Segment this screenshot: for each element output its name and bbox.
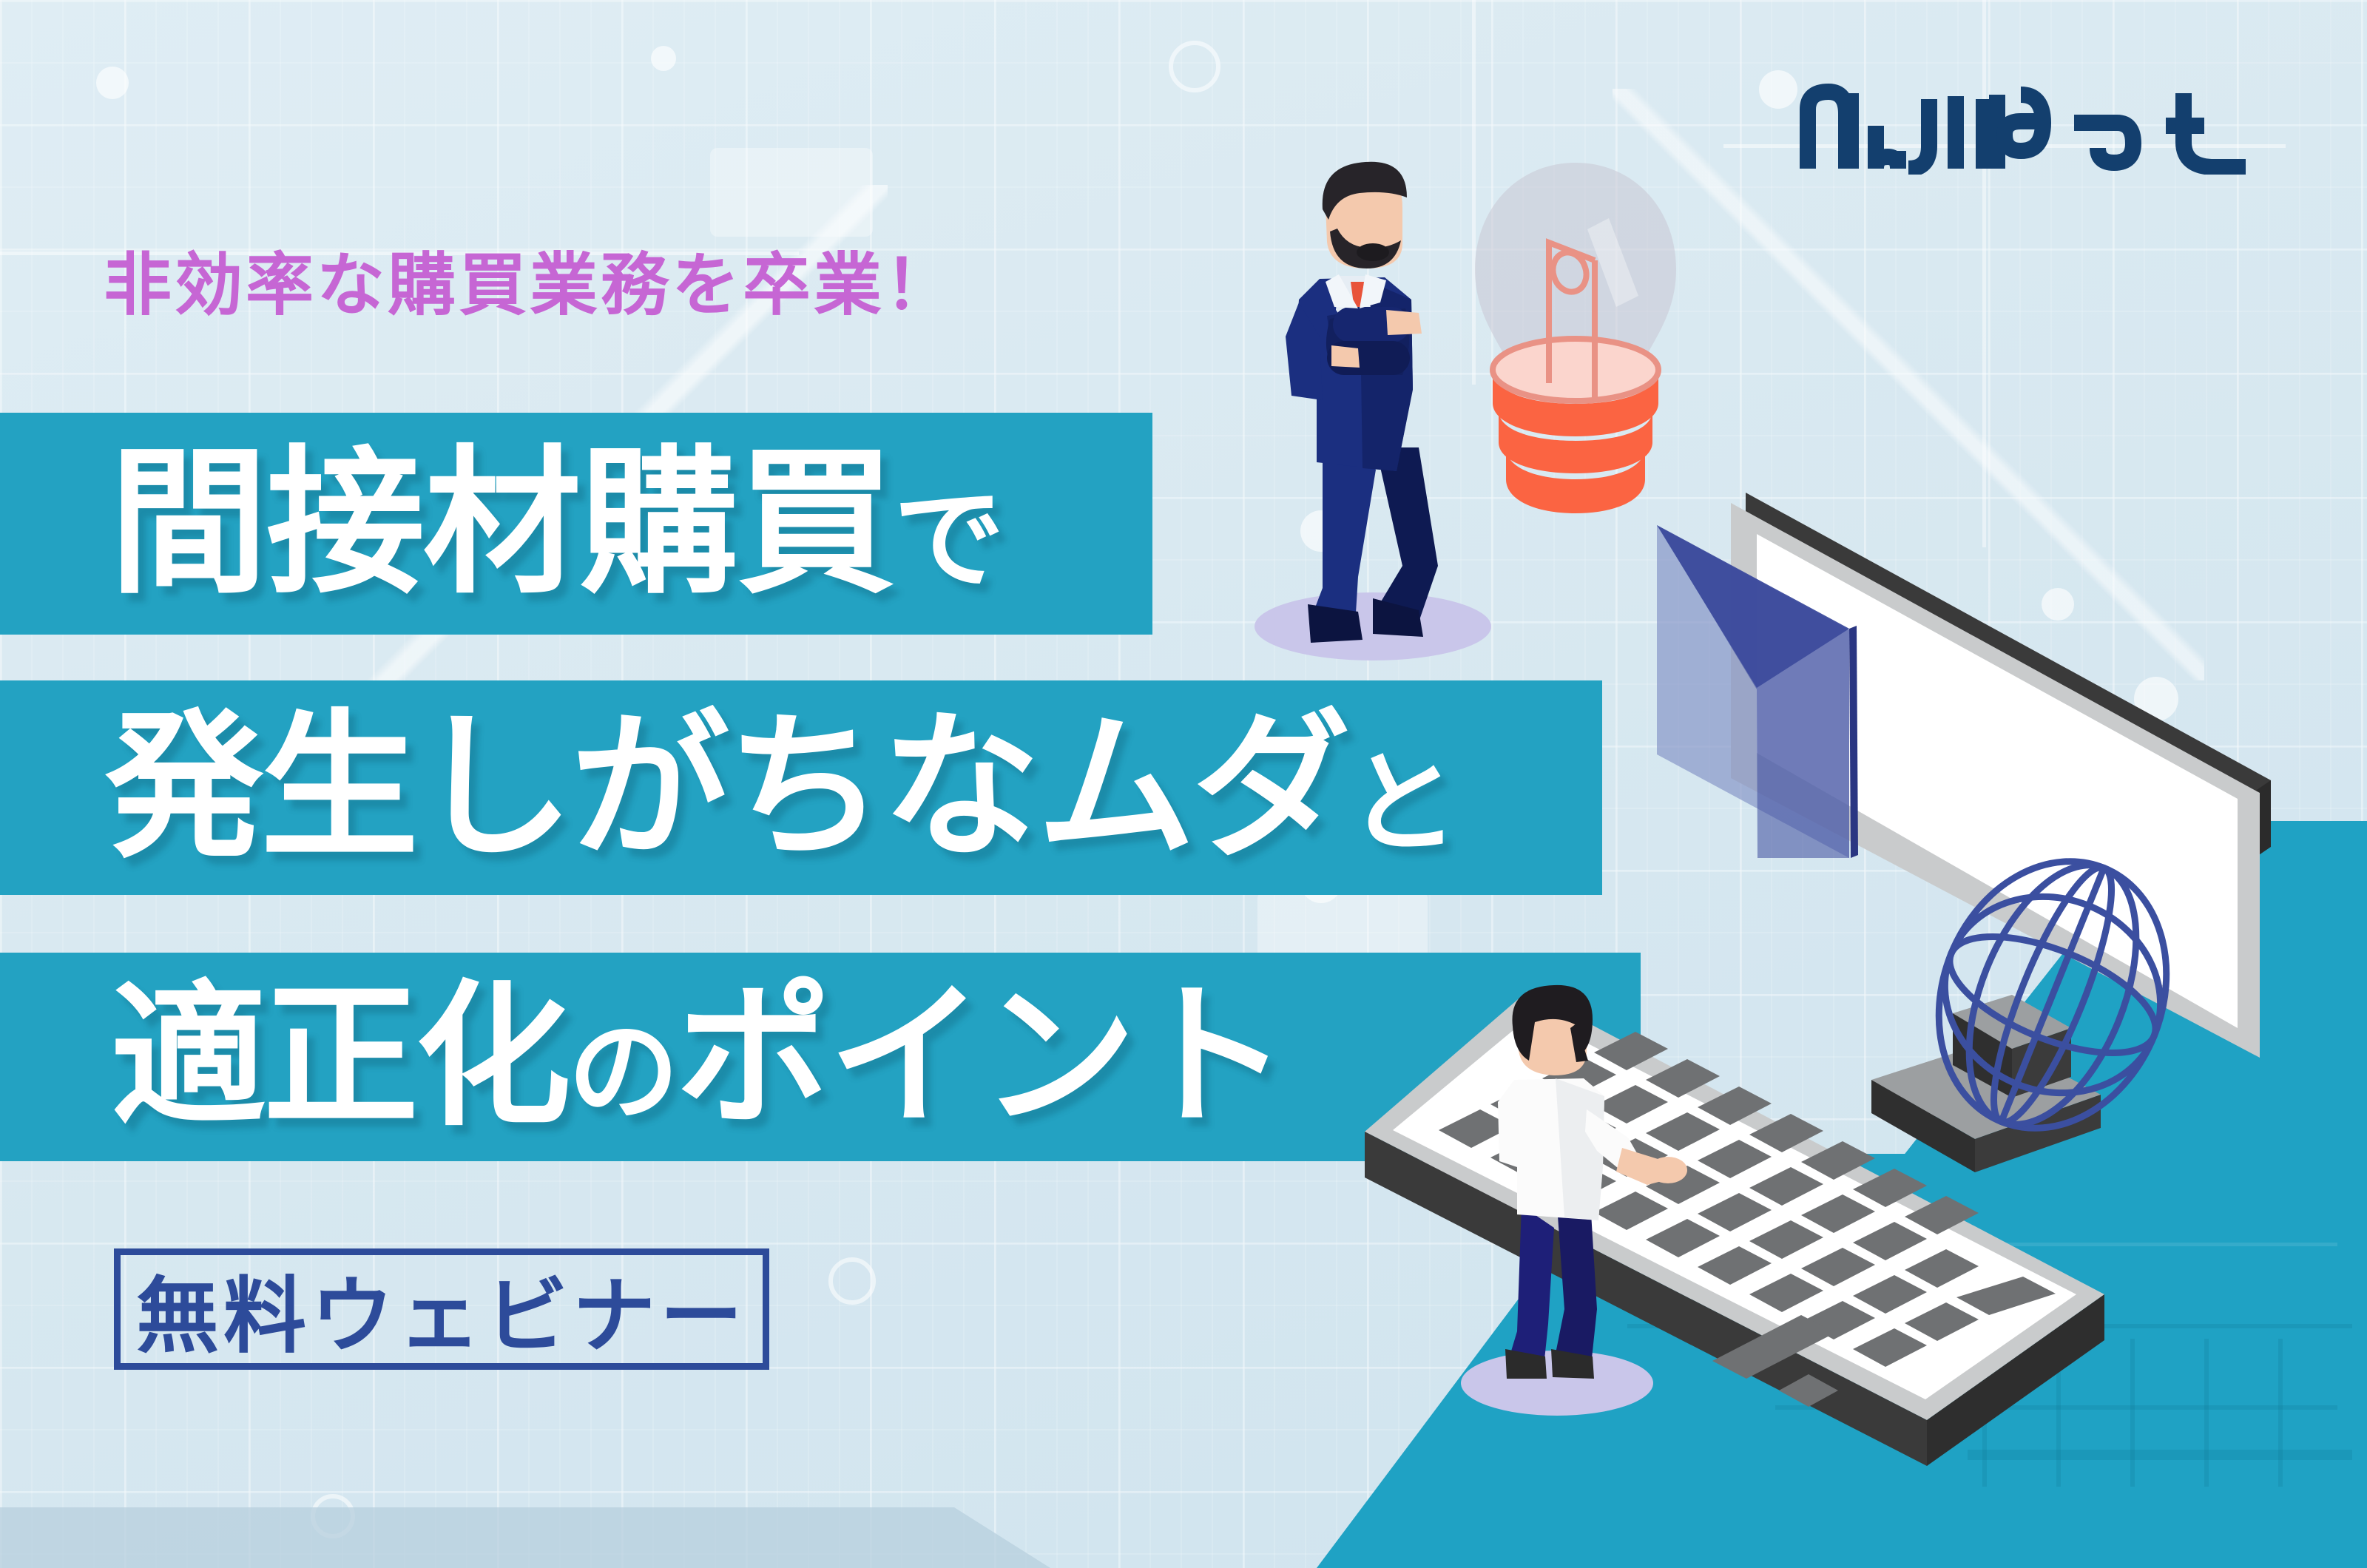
free-webinar-label: 無料ウェビナー	[136, 1249, 747, 1369]
headline-line-3-tail: ポイント	[676, 970, 1286, 1143]
headline-line-2-main: 発生しがちなムダ	[105, 699, 1348, 876]
headline-line-3-main: 適正化	[111, 970, 568, 1143]
bottom-left-wedge	[0, 1507, 1050, 1568]
person-at-keyboard	[1446, 984, 1757, 1427]
headline-band-2: 発生しがちなムダと	[0, 680, 1602, 895]
headline-band-1: 間接材購買で	[0, 413, 1152, 635]
circuit-node	[96, 67, 129, 99]
logo-text-alt: べんりねっと	[1799, 172, 1803, 175]
circuit-node	[1759, 70, 1797, 109]
headline-line-1-suffix: で	[894, 477, 1003, 601]
benri-net-logo[interactable]: べんりねっと	[1799, 80, 2272, 175]
circuit-ring	[828, 1257, 876, 1305]
circuit-node	[651, 46, 676, 71]
circuit-ring	[1169, 41, 1220, 92]
headline-line-2: 発生しがちなムダと	[0, 709, 1456, 867]
headline-line-1: 間接材購買で	[0, 445, 1003, 603]
free-webinar-badge: 無料ウェビナー	[114, 1248, 769, 1370]
headline-line-3: 適正化のポイント	[0, 979, 1286, 1135]
headline-line-1-main: 間接材購買	[109, 435, 894, 612]
headline-line-3-mid: の	[568, 1010, 676, 1134]
webinar-banner: 非効率な購買業務を卒業！ 間接材購買で 発生しがちなムダと 適正化のポイント 無…	[0, 0, 2367, 1568]
eyebrow-text: 非効率な購買業務を卒業！	[104, 251, 956, 320]
circuit-chip	[710, 148, 873, 237]
businessman-illustration	[1228, 152, 1613, 669]
headline-line-2-suffix: と	[1348, 741, 1456, 865]
